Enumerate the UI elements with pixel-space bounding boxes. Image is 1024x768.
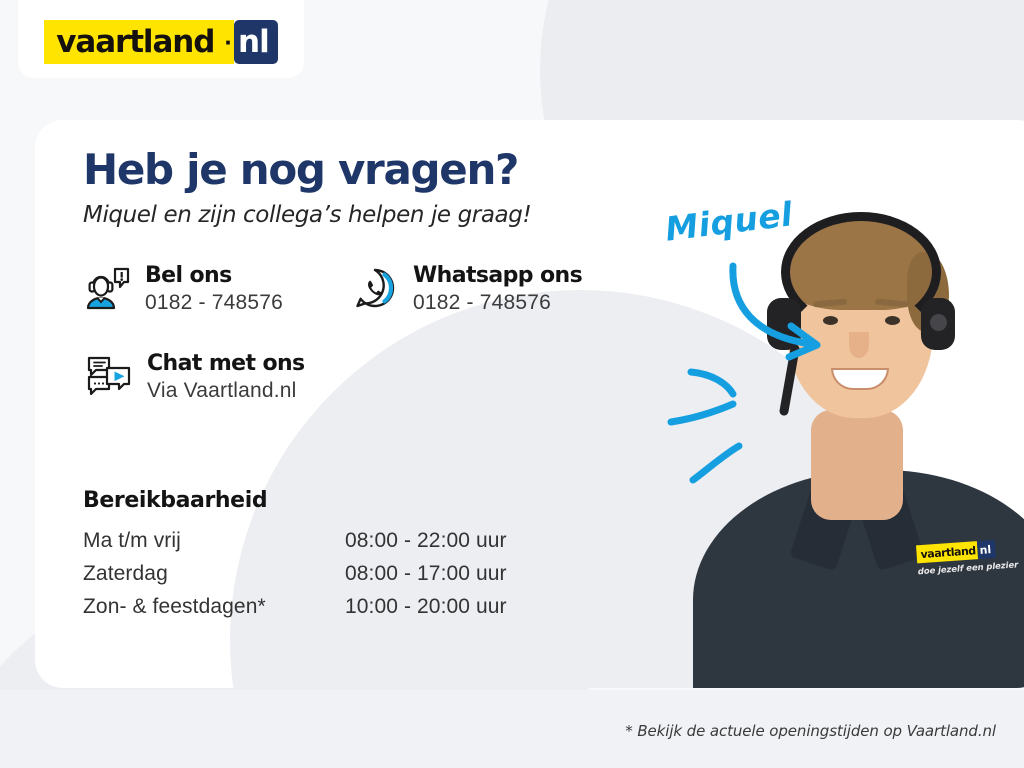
- contact-call-title: Bel ons: [145, 263, 283, 288]
- footnote-opening-hours: * Bekijk de actuele openingstijden op Va…: [625, 722, 996, 740]
- contact-chat[interactable]: Chat met ons Via Vaartland.nl: [85, 350, 305, 403]
- contact-whatsapp[interactable]: Whatsapp ons 0182 - 748576: [351, 262, 582, 315]
- availability-time: 08:00 - 17:00 uur: [345, 562, 507, 586]
- contact-methods: Bel ons 0182 - 748576 Whatsapp ons 0182 …: [83, 262, 683, 422]
- logo-wordmark: vaartland: [44, 20, 224, 64]
- shirt-logo-tld: nl: [977, 540, 996, 559]
- chat-bubbles-icon: [85, 352, 133, 400]
- availability-time: 10:00 - 20:00 uur: [345, 595, 507, 619]
- page-subtitle: Miquel en zijn collega’s helpen je graag…: [83, 202, 683, 228]
- availability-day: Ma t/m vrij: [83, 529, 345, 553]
- content-column: Heb je nog vragen? Miquel en zijn colleg…: [83, 148, 683, 422]
- availability-title: Bereikbaarheid: [83, 488, 603, 513]
- contact-chat-title: Chat met ons: [147, 351, 305, 376]
- headset-earcup-right: [921, 298, 955, 350]
- brand-logo-card[interactable]: vaartland · nl: [18, 0, 304, 78]
- main-content-card: vaartland nl doe jezelf een plezier Miqu…: [35, 120, 1024, 688]
- shirt-logo-badge: vaartland nl doe jezelf een plezier: [916, 539, 1014, 578]
- availability-day: Zaterdag: [83, 562, 345, 586]
- contact-whatsapp-title: Whatsapp ons: [413, 263, 582, 288]
- contact-whatsapp-number[interactable]: 0182 - 748576: [413, 291, 582, 315]
- contact-chat-link[interactable]: Via Vaartland.nl: [147, 379, 305, 403]
- availability-day: Zon- & feestdagen*: [83, 595, 345, 619]
- neck: [811, 410, 903, 520]
- accent-dashes-icon: [665, 350, 795, 500]
- availability-row: Ma t/m vrij 08:00 - 22:00 uur: [83, 529, 603, 553]
- whatsapp-icon: [351, 264, 399, 312]
- availability-row: Zon- & feestdagen* 10:00 - 20:00 uur: [83, 595, 603, 619]
- availability-section: Bereikbaarheid Ma t/m vrij 08:00 - 22:00…: [83, 488, 603, 628]
- logo-tld: nl: [234, 20, 278, 64]
- contact-call[interactable]: Bel ons 0182 - 748576: [83, 262, 283, 315]
- availability-row: Zaterdag 08:00 - 17:00 uur: [83, 562, 603, 586]
- availability-time: 08:00 - 22:00 uur: [345, 529, 507, 553]
- headset-person-icon: [83, 264, 131, 312]
- shirt-logo-wordmark: vaartland: [916, 541, 978, 563]
- page-title: Heb je nog vragen?: [83, 148, 683, 192]
- contact-call-number[interactable]: 0182 - 748576: [145, 291, 283, 315]
- vaartland-logo[interactable]: vaartland · nl: [44, 20, 277, 64]
- logo-dot-separator: ·: [224, 20, 234, 64]
